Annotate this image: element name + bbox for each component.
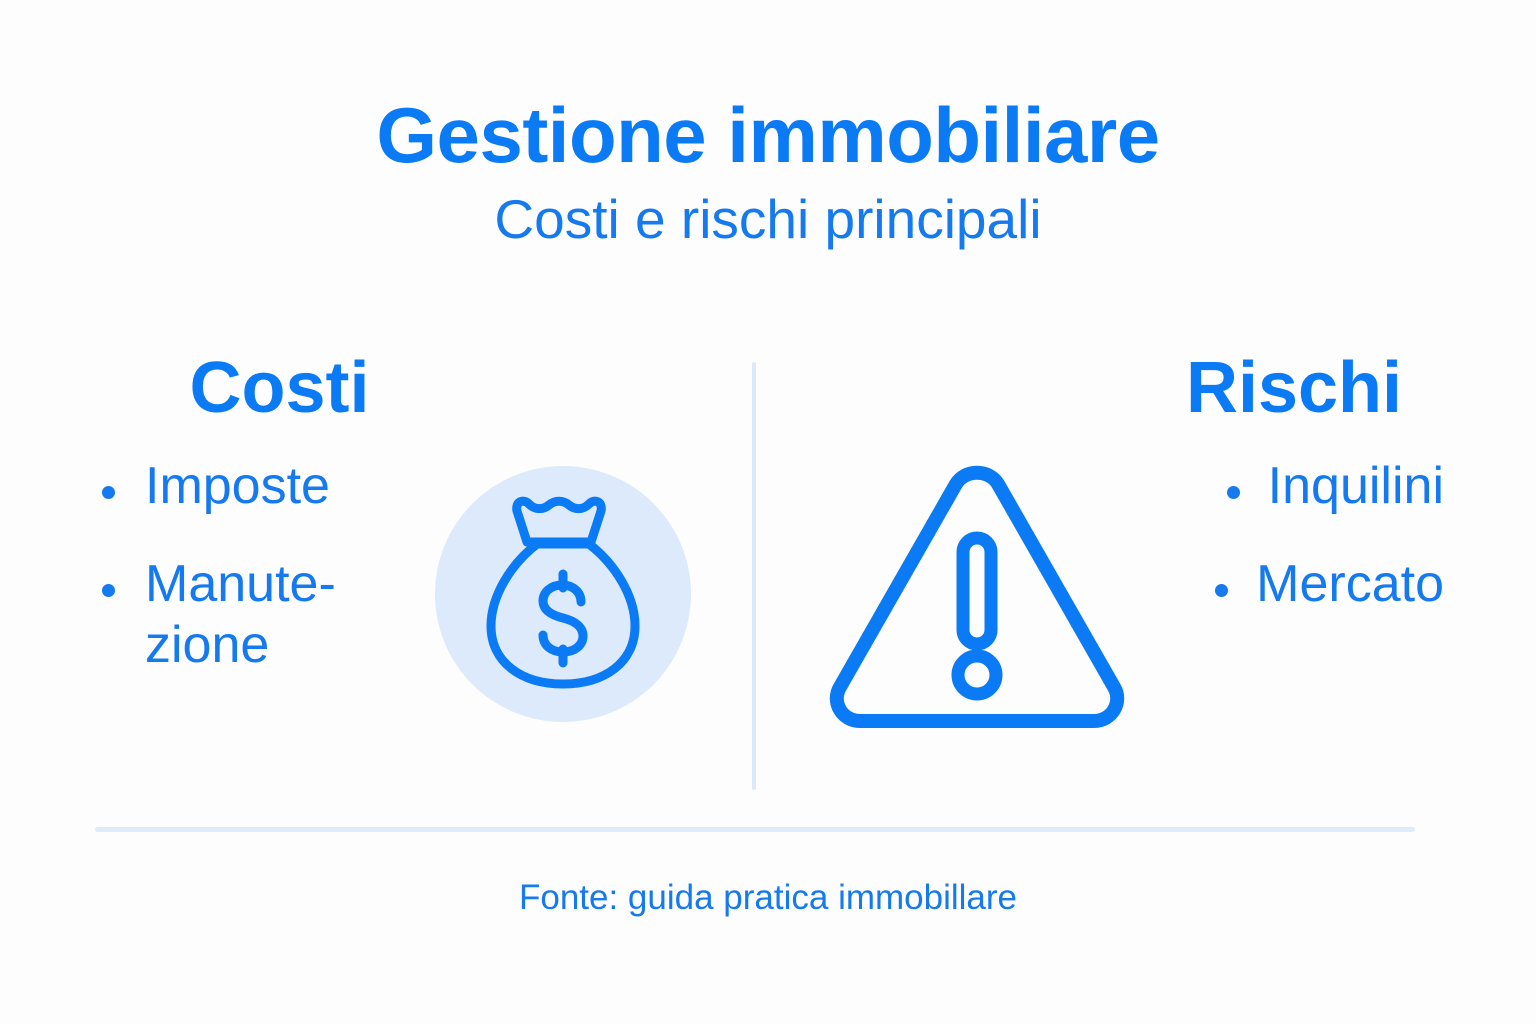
bullet-list-rischi: Inquilini Mercato xyxy=(1114,456,1444,653)
list-item: Imposte xyxy=(102,456,402,516)
bullet-dot-icon xyxy=(1227,486,1240,499)
column-body-rischi: Inquilini Mercato xyxy=(784,456,1444,792)
bullet-list-costi: Imposte Manute- zione xyxy=(102,456,402,713)
list-item-label: Inquilini xyxy=(1268,456,1444,516)
money-bag-glyph xyxy=(483,496,643,692)
list-item-label: Manute- zione xyxy=(145,554,336,675)
warning-triangle-glyph xyxy=(822,456,1132,746)
bullet-dot-icon xyxy=(102,486,115,499)
columns-area: Costi Imposte Manute- zione xyxy=(0,352,1536,792)
list-item-label: Imposte xyxy=(145,456,330,516)
list-item: Inquilini xyxy=(1114,456,1444,516)
column-rischi: Rischi Inquilini Mer xyxy=(784,352,1444,792)
warning-triangle-icon xyxy=(822,456,1132,746)
list-item: Manute- zione xyxy=(102,554,402,675)
column-heading-rischi: Rischi xyxy=(784,352,1444,424)
footer-divider xyxy=(95,827,1415,832)
column-divider xyxy=(752,362,756,790)
column-body-costi: Imposte Manute- zione xyxy=(92,456,752,792)
page-subtitle: Costi e rischi principali xyxy=(0,192,1536,247)
column-heading-costi: Costi xyxy=(92,352,752,424)
bullet-dot-icon xyxy=(102,584,115,597)
infographic-canvas: Gestione immobiliare Costi e rischi prin… xyxy=(0,0,1536,1024)
column-costi: Costi Imposte Manute- zione xyxy=(92,352,752,792)
money-bag-icon xyxy=(435,466,691,722)
bullet-dot-icon xyxy=(1215,584,1228,597)
page-title: Gestione immobiliare xyxy=(0,96,1536,174)
source-label: Fonte: guida pratica immobillare xyxy=(0,880,1536,915)
header: Gestione immobiliare Costi e rischi prin… xyxy=(0,96,1536,247)
list-item-label: Mercato xyxy=(1256,554,1444,614)
footer: Fonte: guida pratica immobillare xyxy=(0,880,1536,915)
list-item: Mercato xyxy=(1114,554,1444,614)
